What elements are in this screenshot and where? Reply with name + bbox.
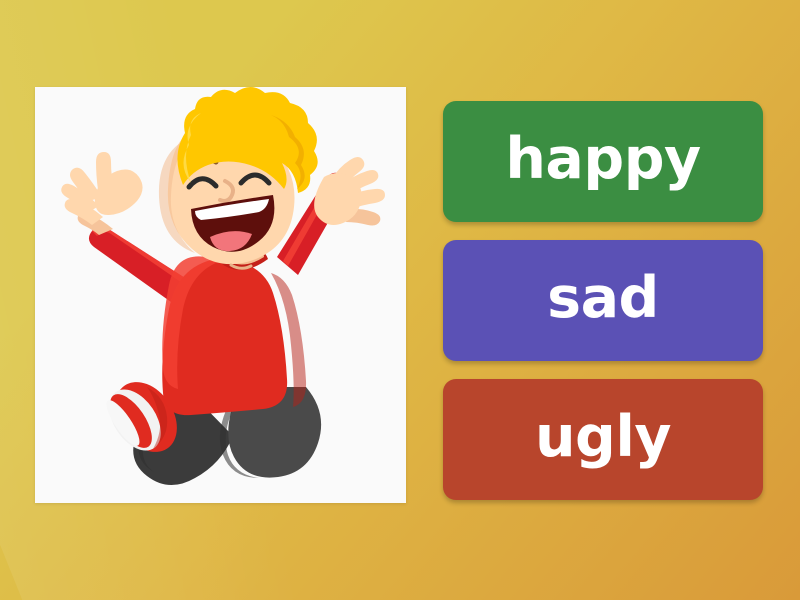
answer-option-happy[interactable]: happy bbox=[443, 101, 763, 222]
answer-option-sad[interactable]: sad bbox=[443, 240, 763, 361]
answer-option-ugly[interactable]: ugly bbox=[443, 379, 763, 500]
question-image-card bbox=[35, 87, 406, 503]
answer-options: happy sad ugly bbox=[443, 101, 763, 500]
answer-option-label: ugly bbox=[535, 409, 671, 466]
quiz-screen: happy sad ugly bbox=[0, 0, 800, 600]
jumping-boy-illustration bbox=[35, 87, 406, 503]
answer-option-label: sad bbox=[547, 270, 659, 327]
answer-option-label: happy bbox=[505, 131, 700, 188]
